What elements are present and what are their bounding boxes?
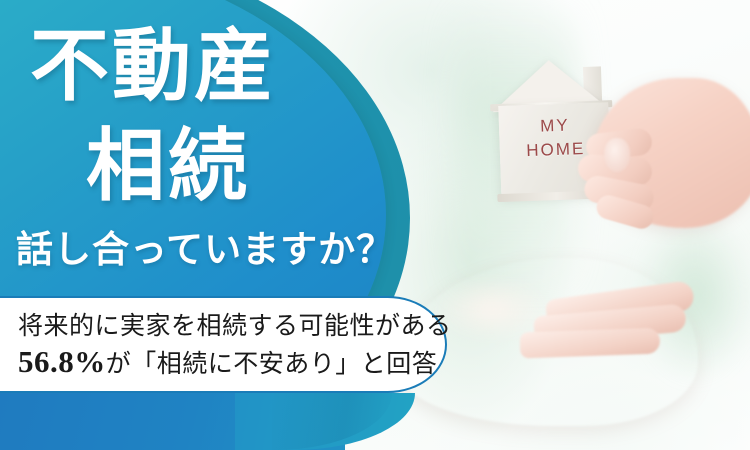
statistic-line-2: 56.8%が「相続に不安あり」と回答 [18,344,418,383]
statistic-banner: 将来的に実家を相続する可能性がある 56.8%が「相続に不安あり」と回答 [0,296,447,393]
statistic-percentage: 56.8% [18,344,106,379]
headline-line-2: 相続 [86,128,250,207]
headline-line-3: 話し合っていますか？ [16,231,394,268]
hand-thumb [604,138,630,172]
house-label-line1: MY [509,112,602,139]
statistic-line-1: 将来的に実家を相続する可能性がある [18,310,418,344]
promo-banner-stage: MY HOME 不動産 相続 話し合っていますか？ 将来的に実家を相続する可能性… [0,0,750,450]
statistic-banner-content: 将来的に実家を相続する可能性がある 56.8%が「相続に不安あり」と回答 [18,310,418,383]
palm-finger-3 [520,328,661,359]
statistic-line-2-rest: が「相続に不安あり」と回答 [106,351,438,378]
headline-line-1: 不動産 [30,28,276,107]
